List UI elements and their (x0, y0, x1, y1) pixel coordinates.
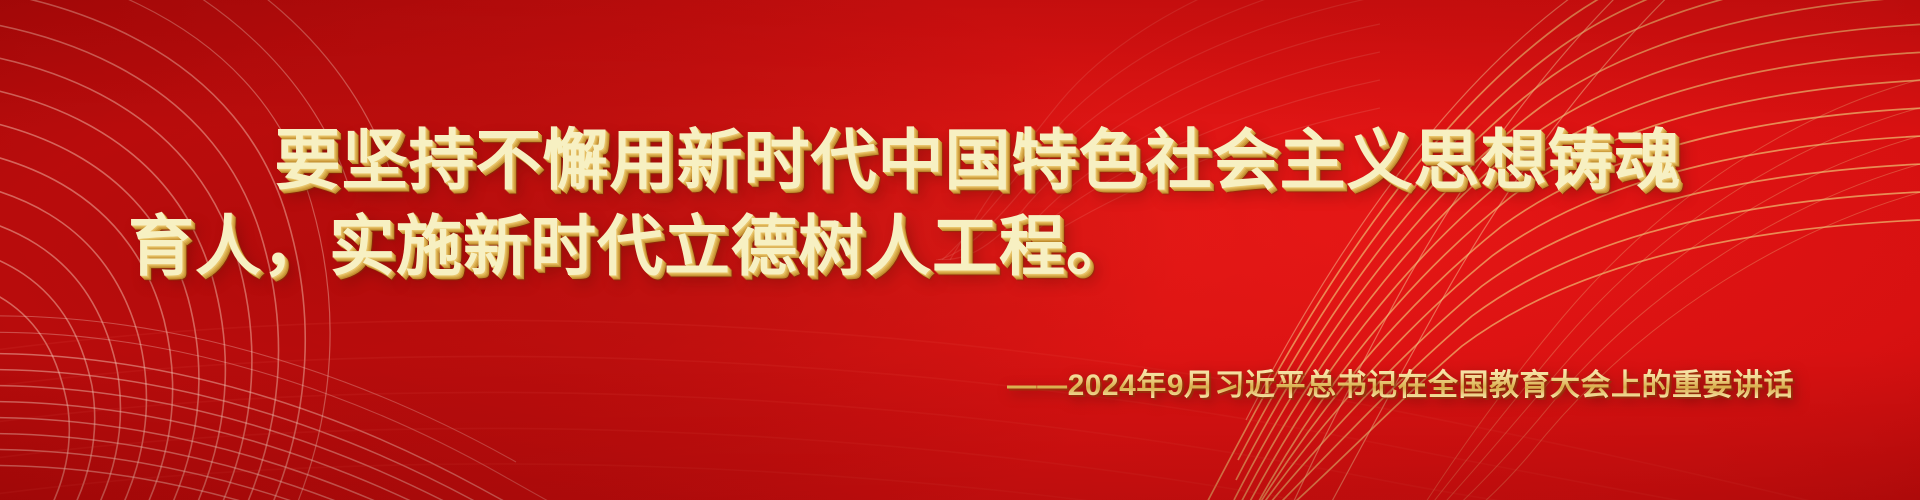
headline-line-1: 要坚持不懈用新时代中国特色社会主义思想铸魂 (146, 118, 1810, 204)
attribution-text: ——2024年9月习近平总书记在全国教育大会上的重要讲话 (1007, 360, 1794, 404)
propaganda-banner: 要坚持不懈用新时代中国特色社会主义思想铸魂 育人，实施新时代立德树人工程。 ——… (0, 0, 1920, 500)
headline-line-2: 育人，实施新时代立德树人工程。 (128, 204, 1810, 290)
headline-block: 要坚持不懈用新时代中国特色社会主义思想铸魂 育人，实施新时代立德树人工程。 (0, 118, 1920, 290)
banner-content: 要坚持不懈用新时代中国特色社会主义思想铸魂 育人，实施新时代立德树人工程。 ——… (0, 0, 1920, 500)
